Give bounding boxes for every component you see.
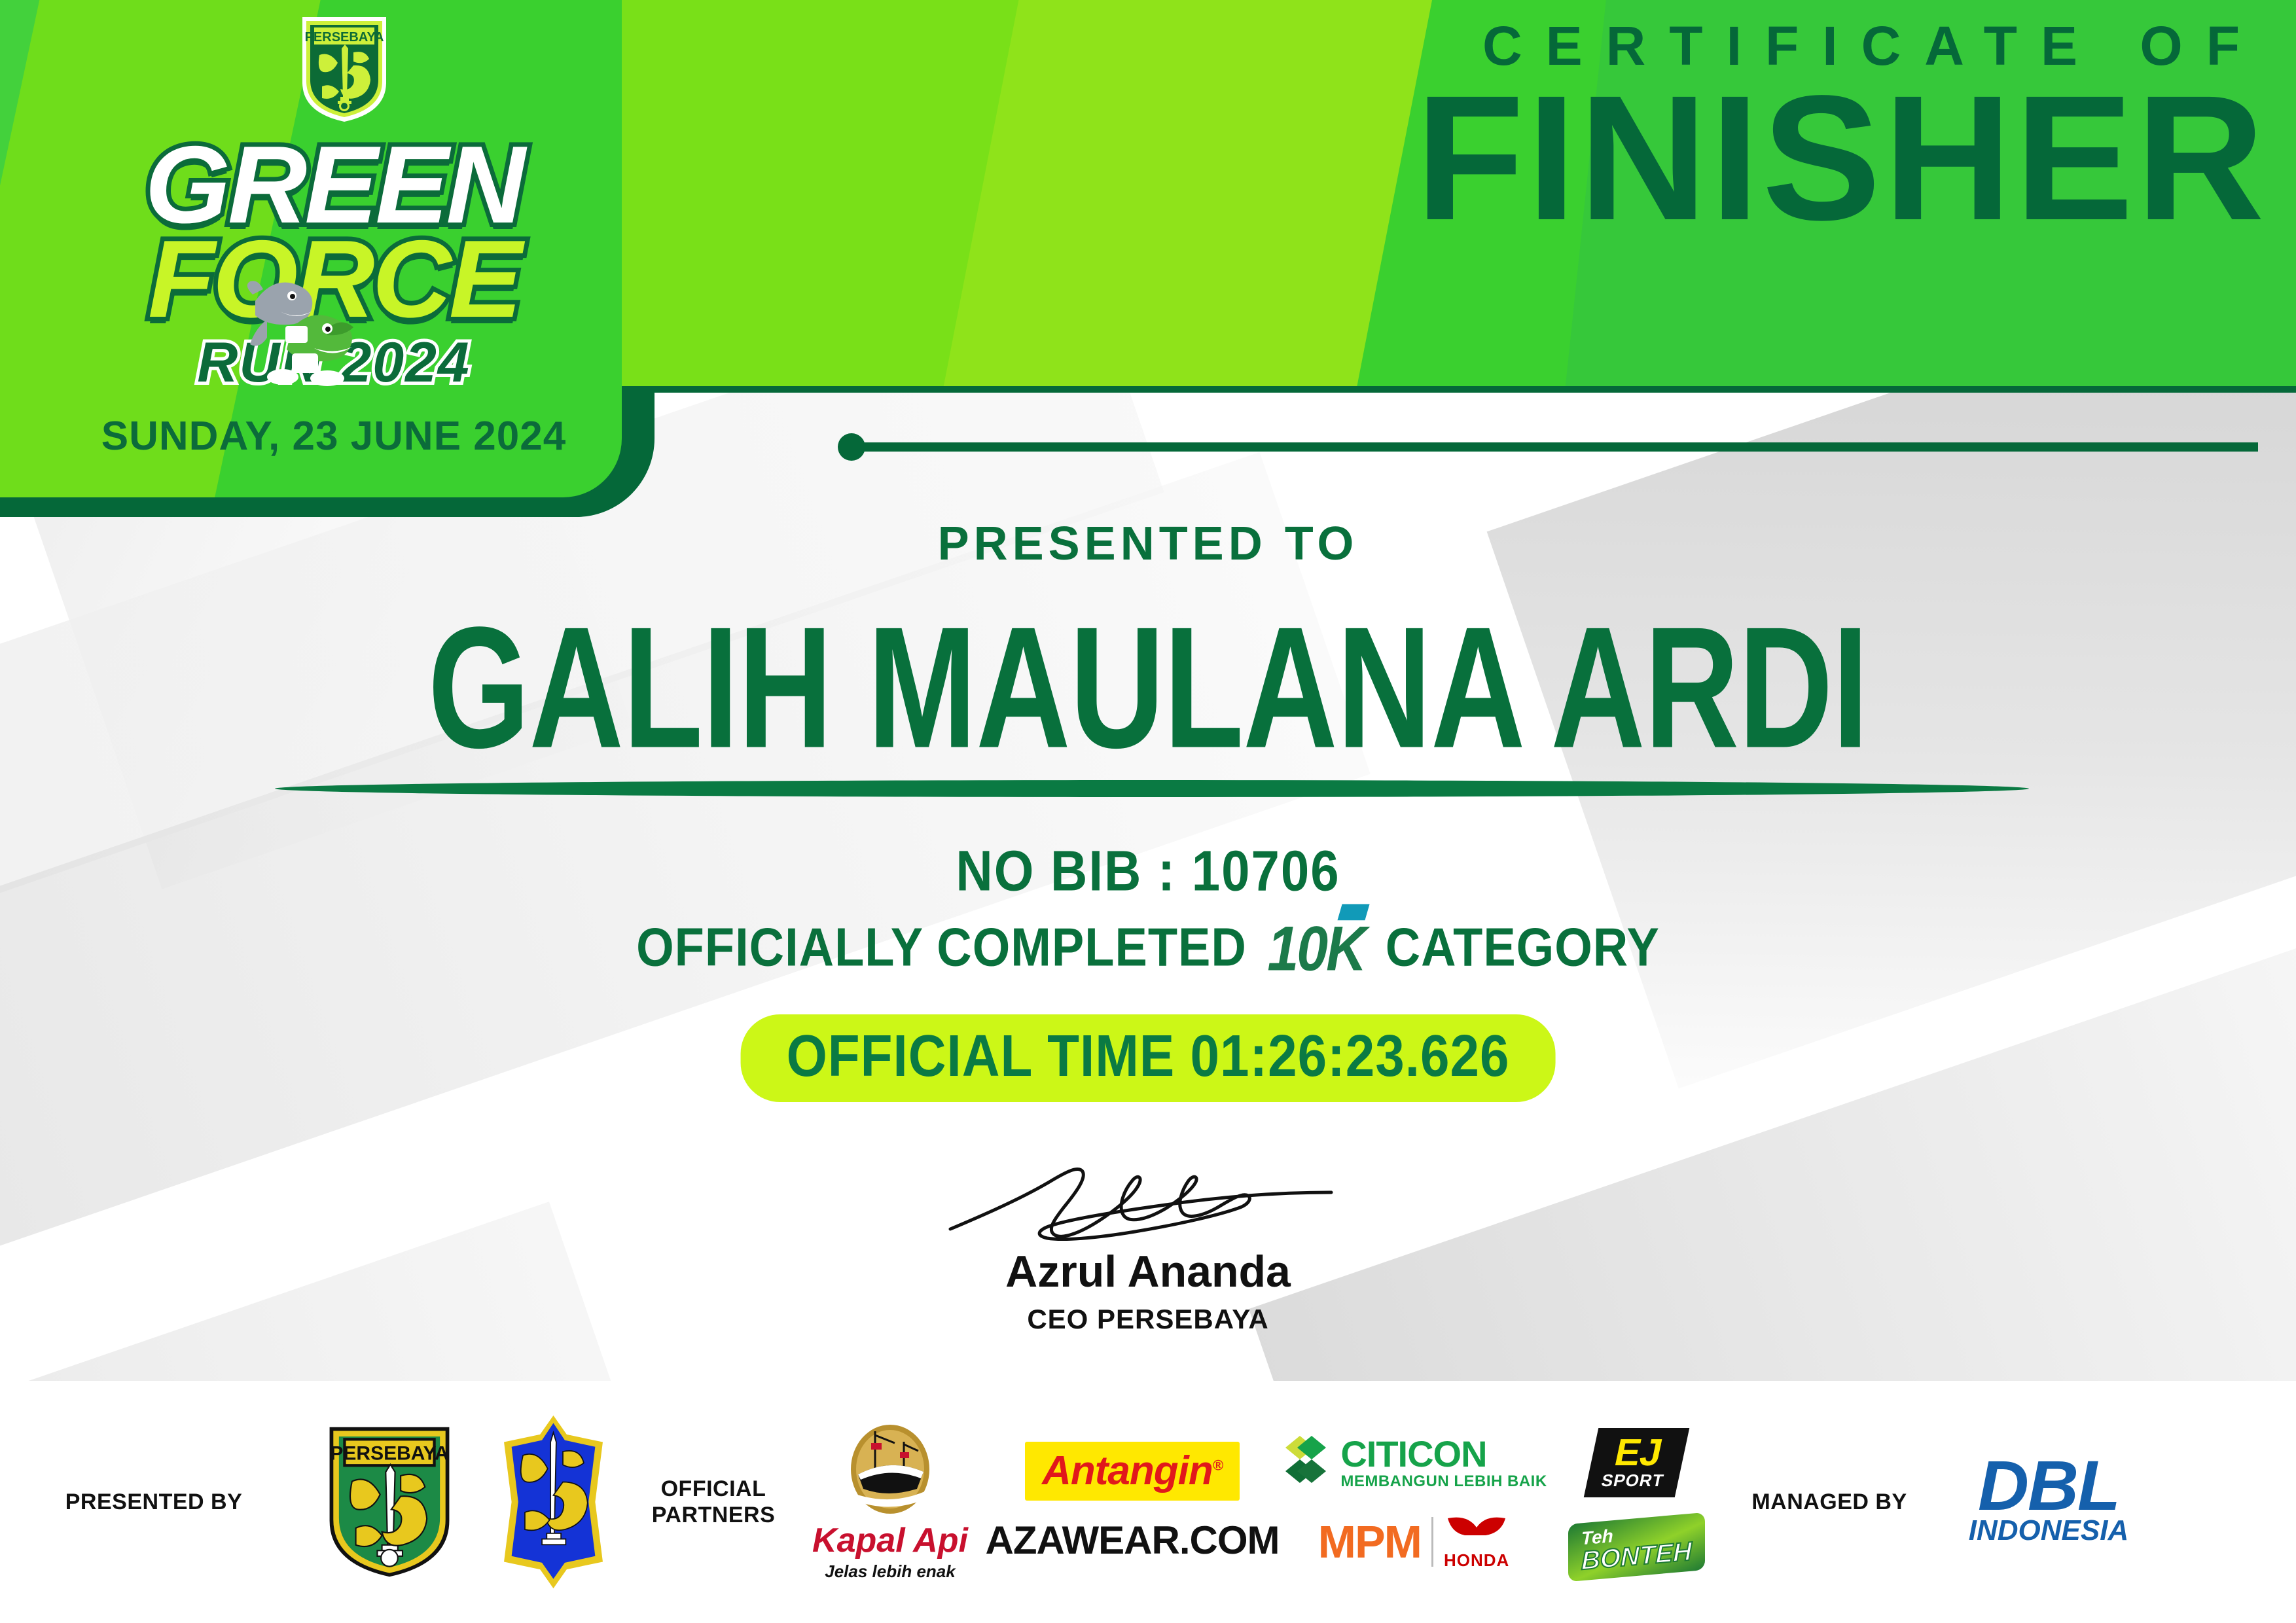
footer-logo-teh-bonteh: Teh BONTEH xyxy=(1568,1512,1705,1582)
signature-icon xyxy=(939,1152,1357,1250)
event-date: SUNDAY, 23 JUNE 2024 xyxy=(85,413,583,459)
decorative-line xyxy=(861,442,2258,452)
certificate-title: CERTIFICATE OF FINISHER xyxy=(1026,14,2270,232)
mpm-name: MPM xyxy=(1318,1522,1421,1563)
signature-block: Azrul Ananda CEO PERSEBAYA xyxy=(853,1152,1443,1335)
footer-logo-persebaya: PERSEBAYA xyxy=(308,1420,471,1584)
citicon-mark-icon xyxy=(1280,1433,1331,1493)
antangin-name: Antangin xyxy=(1042,1448,1213,1493)
recipient-name: GALIH MAULANA ARDI xyxy=(0,589,2296,788)
decorative-rule xyxy=(838,433,2258,452)
mpm-divider xyxy=(1431,1517,1433,1567)
dbl-sub: INDONESIA xyxy=(1969,1514,2128,1547)
official-partners-label: OFFICIAL PARTNERS xyxy=(652,1476,776,1528)
footer-logo-citicon: CITICON MEMBANGUN LEBIH BAIK xyxy=(1280,1433,1547,1493)
citicon-tagline: MEMBANGUN LEBIH BAIK xyxy=(1340,1472,1547,1491)
presented-by-label: PRESENTED BY xyxy=(65,1489,243,1515)
kapal-api-tagline: Jelas lebih enak xyxy=(812,1561,968,1582)
svg-text:PERSEBAYA: PERSEBAYA xyxy=(305,30,384,45)
certificate-page: PERSEBAYA GREEN FORCE RUN 2024 SUNDAY, 2… xyxy=(0,0,2296,1623)
signatory-name: Azrul Ananda xyxy=(853,1246,1443,1297)
bib-label: NO BIB : xyxy=(956,838,1176,903)
completed-suffix: CATEGORY xyxy=(1386,917,1660,978)
honda-name: HONDA xyxy=(1444,1550,1509,1571)
completed-prefix: OFFICIALLY COMPLETED xyxy=(636,917,1247,978)
surabaya-city-crest-icon xyxy=(496,1414,611,1590)
kapal-api-name: Kapal Api xyxy=(812,1524,968,1558)
managed-by-label: MANAGED BY xyxy=(1751,1489,1907,1515)
kapal-api-ship-icon xyxy=(841,1422,939,1520)
persebaya-crest-icon: PERSEBAYA xyxy=(298,14,390,124)
bib-number-line: NO BIB : 10706 xyxy=(0,838,2296,904)
svg-text:PERSEBAYA: PERSEBAYA xyxy=(330,1443,448,1465)
name-divider xyxy=(275,780,2029,797)
dbl-name: DBL xyxy=(1969,1457,2128,1515)
bib-value: 10706 xyxy=(1192,838,1340,903)
antangin-registered-icon: ® xyxy=(1213,1457,1223,1473)
footer-logo-dbl-indonesia: DBL INDONESIA xyxy=(1937,1457,2160,1548)
footer-logo-surabaya-city xyxy=(471,1414,635,1590)
footer-logo-ej-sport: EJ SPORT xyxy=(1583,1428,1689,1497)
shark-crocodile-mascot-icon xyxy=(229,255,367,393)
ej-name: EJ xyxy=(1604,1435,1673,1471)
honda-wing-icon xyxy=(1445,1513,1508,1547)
official-time-badge: OFFICIAL TIME 01:26:23.626 xyxy=(741,1014,1556,1102)
citicon-name: CITICON xyxy=(1340,1436,1547,1472)
sponsor-footer: PRESENTED BY PERSEBAYA xyxy=(0,1381,2296,1623)
footer-logo-mpm-honda: MPM HONDA xyxy=(1318,1513,1510,1571)
persebaya-crest-icon: PERSEBAYA xyxy=(324,1420,455,1584)
footer-logo-kapal-api: Kapal Api Jelas lebih enak xyxy=(792,1422,988,1582)
footer-logo-antangin: Antangin® xyxy=(1025,1442,1240,1501)
certificate-finisher-label: FINISHER xyxy=(1026,83,2270,232)
official-time-text: OFFICIAL TIME 01:26:23.626 xyxy=(787,1022,1510,1090)
category-10k-text: 10K xyxy=(1267,914,1365,984)
category-10k-badge-icon: 10K xyxy=(1267,913,1365,986)
category-10k-accent xyxy=(1338,904,1370,921)
presented-to-label: PRESENTED TO xyxy=(0,517,2296,571)
category-line: OFFICIALLY COMPLETED 10K CATEGORY xyxy=(0,913,2296,986)
signatory-role: CEO PERSEBAYA xyxy=(853,1304,1443,1335)
footer-logo-azawear: AZAWEAR.COM xyxy=(986,1518,1280,1563)
